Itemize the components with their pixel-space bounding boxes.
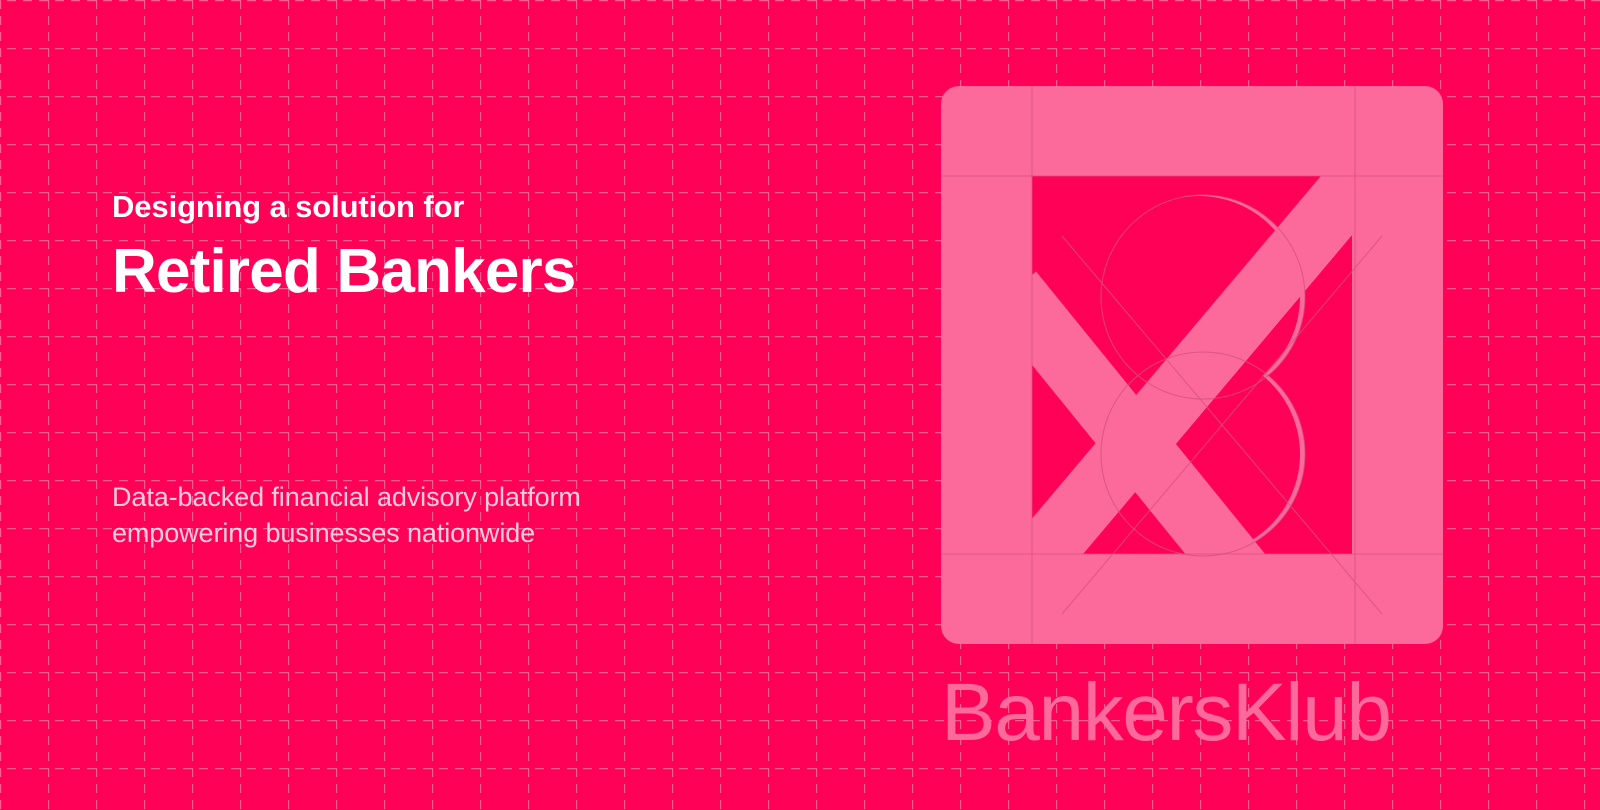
logo-construction-panel <box>941 86 1443 644</box>
hero-headline: Retired Bankers <box>112 237 752 306</box>
hero-eyebrow: Designing a solution for <box>112 188 752 225</box>
hero-subtitle-line-2: empowering businesses nationwide <box>112 516 732 552</box>
hero-subtitle: Data-backed financial advisory platform … <box>112 480 732 551</box>
hero-subtitle-line-1: Data-backed financial advisory platform <box>112 480 732 516</box>
cover-slide: Designing a solution for Retired Bankers… <box>0 0 1600 810</box>
brand-wordmark: BankersKlub <box>941 672 1391 754</box>
hero-copy-block: Designing a solution for Retired Bankers <box>112 188 752 307</box>
